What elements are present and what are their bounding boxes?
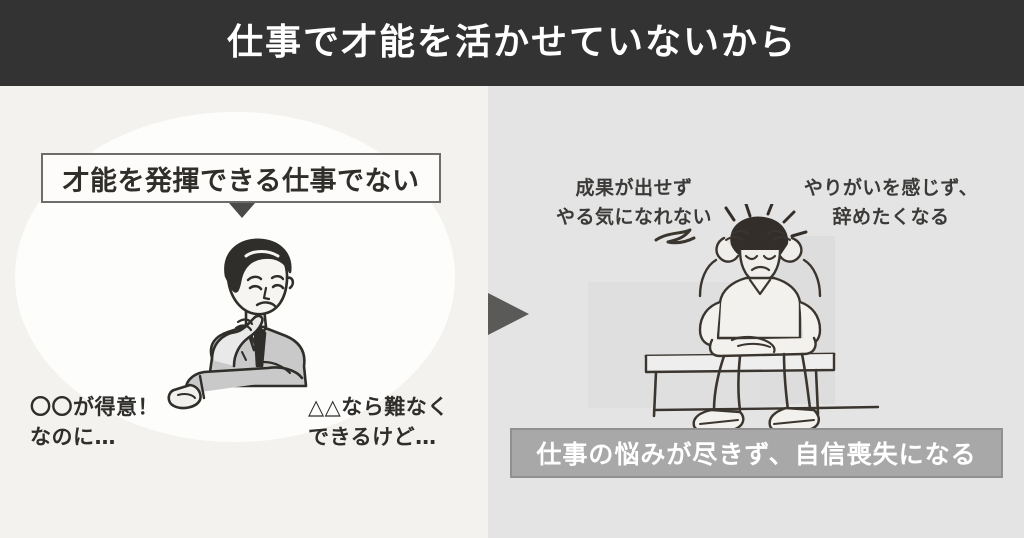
right-triangle-icon xyxy=(488,293,529,335)
caption-left-line1: 〇〇が得意！ xyxy=(30,392,159,422)
caption-right: △△なら難なく できるけど… xyxy=(308,392,449,453)
callout-box: 才能を発揮できる仕事でない xyxy=(41,153,441,203)
callout-box-label: 才能を発揮できる仕事でない xyxy=(63,159,420,198)
thinking-businessman-illustration xyxy=(150,226,360,416)
caption-right-line2: できるけど… xyxy=(308,422,449,452)
caption-left-line2: なのに… xyxy=(30,422,159,452)
left-panel: 才能を発揮できる仕事でない xyxy=(0,86,488,538)
note-want-to-quit-line1: やりがいを感じず、 xyxy=(776,174,1006,203)
status-banner-label: 仕事の悩みが尽きず、自信喪失になる xyxy=(536,435,976,471)
header-bar: 仕事で才能を活かせていないから xyxy=(0,0,1024,86)
caption-left: 〇〇が得意！ なのに… xyxy=(30,392,159,453)
page-title: 仕事で才能を活かせていないから xyxy=(227,25,797,61)
down-triangle-icon xyxy=(229,203,255,218)
caption-right-line1: △△なら難なく xyxy=(308,392,449,422)
right-panel: 成果が出せず やる気になれない やりがいを感じず、 辞めたくなる xyxy=(488,86,1024,538)
note-no-results-line1: 成果が出せず xyxy=(524,174,744,203)
status-banner: 仕事の悩みが尽きず、自信喪失になる xyxy=(510,428,1003,478)
distressed-person-illustration xyxy=(628,204,898,439)
slide-root: 仕事で才能を活かせていないから 才能を発揮できる仕事でない xyxy=(0,0,1024,538)
